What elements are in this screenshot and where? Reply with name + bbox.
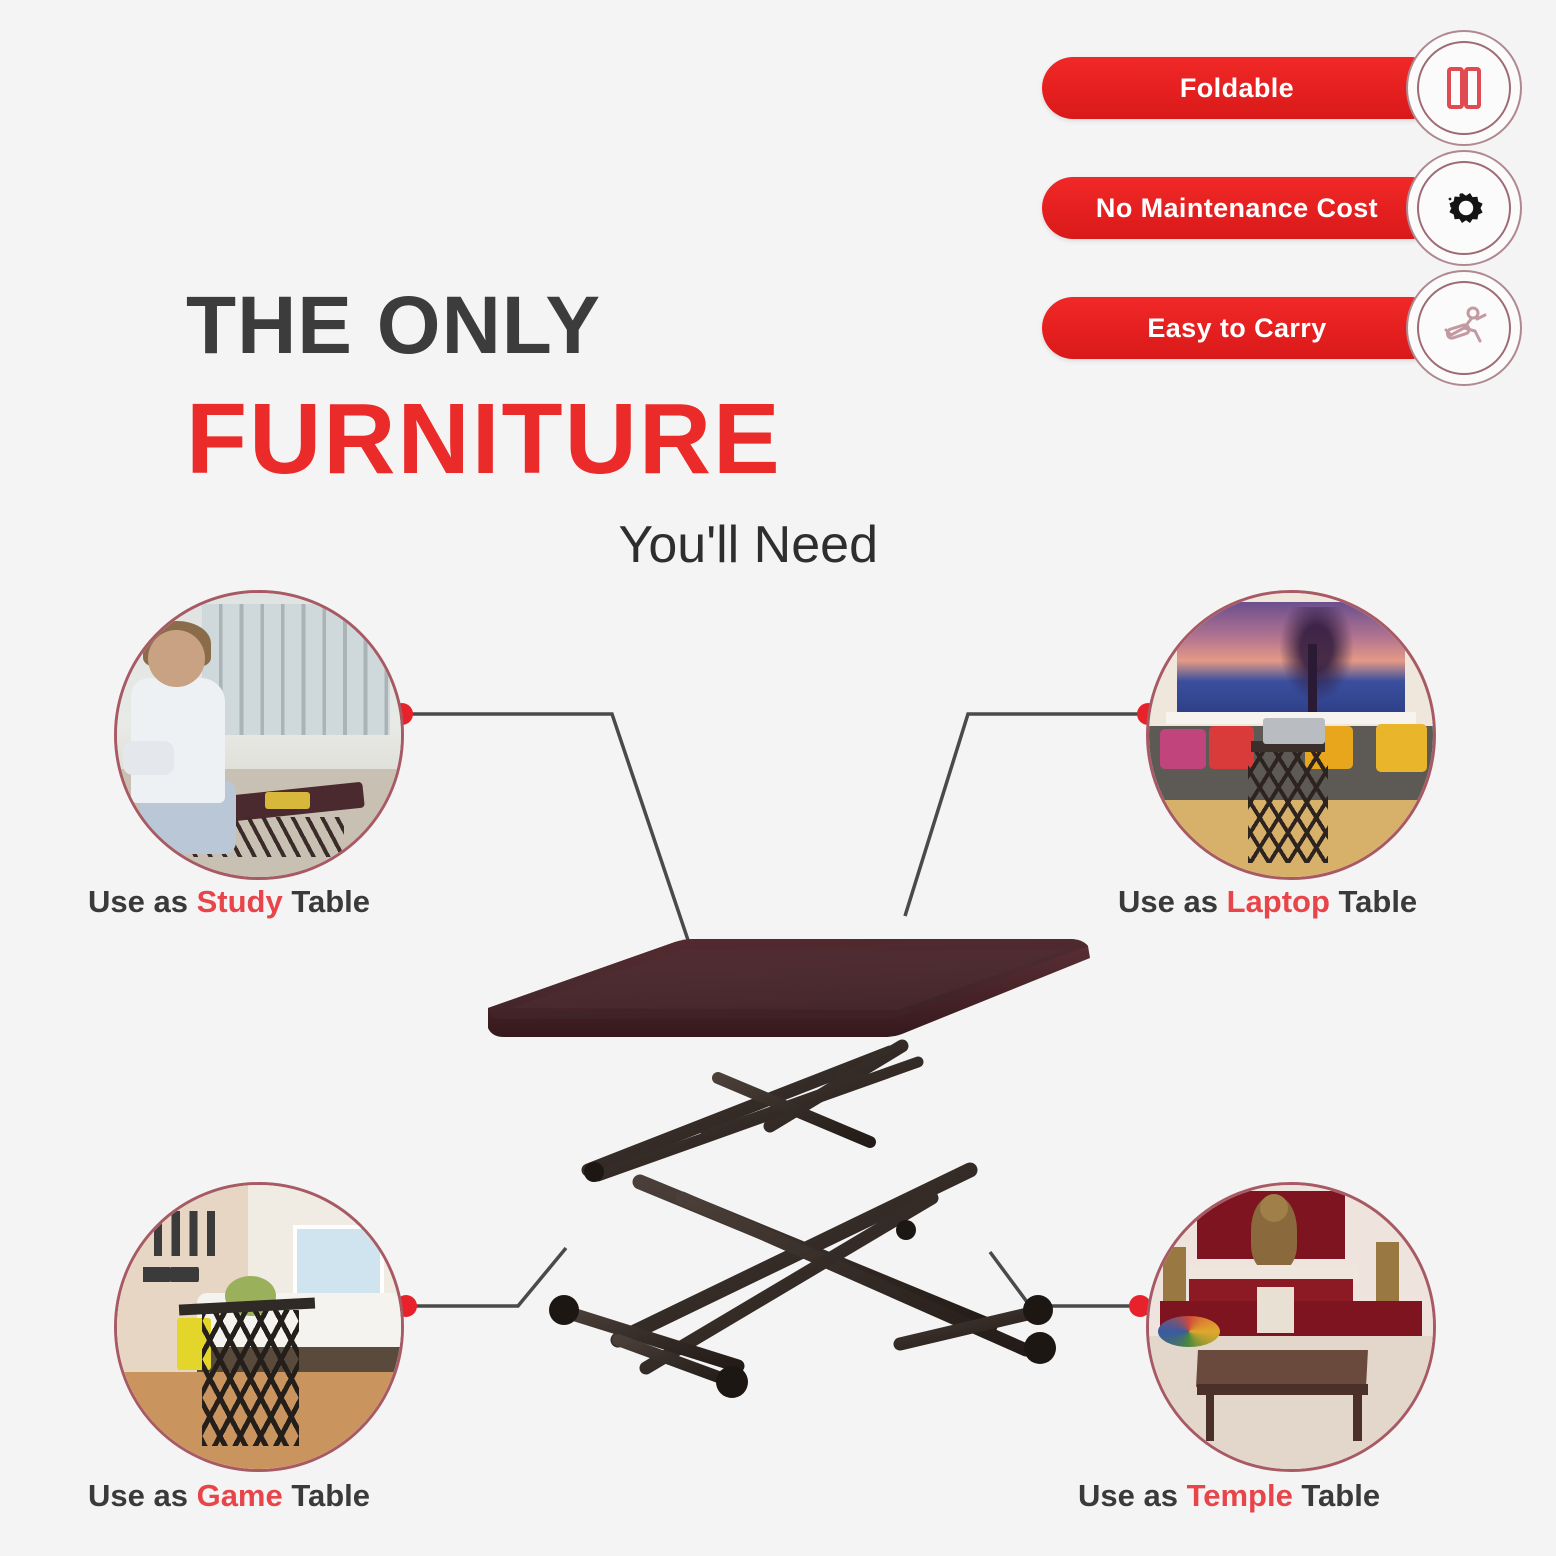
caption-temple-highlight: Temple (1187, 1478, 1293, 1513)
feature-label-no-maintenance-cost: No Maintenance Cost (1042, 177, 1442, 239)
caption-laptop-suffix: Table (1330, 884, 1417, 919)
table-top (488, 939, 1090, 1037)
use-case-photo-game[interactable] (114, 1182, 404, 1472)
gear-icon (1406, 150, 1522, 266)
headline-line-3: You'll Need (186, 515, 886, 575)
feature-badge-no-maintenance-cost[interactable]: No Maintenance Cost (992, 148, 1522, 268)
use-case-photo-study[interactable] (114, 590, 404, 880)
caption-laptop-prefix: Use as (1118, 884, 1227, 919)
caption-study-highlight: Study (197, 884, 283, 919)
carry-person-icon (1406, 270, 1522, 386)
caption-temple: Use as Temple Table (1078, 1478, 1380, 1514)
headline-block: THE ONLY FURNITURE You'll Need (186, 285, 886, 575)
feature-label-foldable: Foldable (1042, 57, 1442, 119)
headline-line-2: FURNITURE (186, 385, 886, 493)
caption-study-prefix: Use as (88, 884, 197, 919)
feature-label-easy-to-carry: Easy to Carry (1042, 297, 1442, 359)
caption-game-suffix: Table (283, 1478, 370, 1513)
product-table-image (470, 930, 1110, 1400)
caption-temple-suffix: Table (1293, 1478, 1380, 1513)
caption-game-highlight: Game (197, 1478, 283, 1513)
caption-game: Use as Game Table (88, 1478, 370, 1514)
table-frame (566, 1046, 1036, 1382)
caption-laptop-highlight: Laptop (1227, 884, 1330, 919)
caption-game-prefix: Use as (88, 1478, 197, 1513)
caption-study-suffix: Table (283, 884, 370, 919)
folded-panel-icon (1406, 30, 1522, 146)
feature-badge-list: Foldable No Maintenance Cost (992, 28, 1522, 388)
caption-laptop: Use as Laptop Table (1118, 884, 1417, 920)
feature-badge-easy-to-carry[interactable]: Easy to Carry (992, 268, 1522, 388)
caption-study: Use as Study Table (88, 884, 370, 920)
use-case-photo-temple[interactable] (1146, 1182, 1436, 1472)
infographic-canvas: Foldable No Maintenance Cost (0, 0, 1556, 1556)
headline-line-1: THE ONLY (186, 285, 886, 367)
caption-temple-prefix: Use as (1078, 1478, 1187, 1513)
use-case-photo-laptop[interactable] (1146, 590, 1436, 880)
feature-badge-foldable[interactable]: Foldable (992, 28, 1522, 148)
